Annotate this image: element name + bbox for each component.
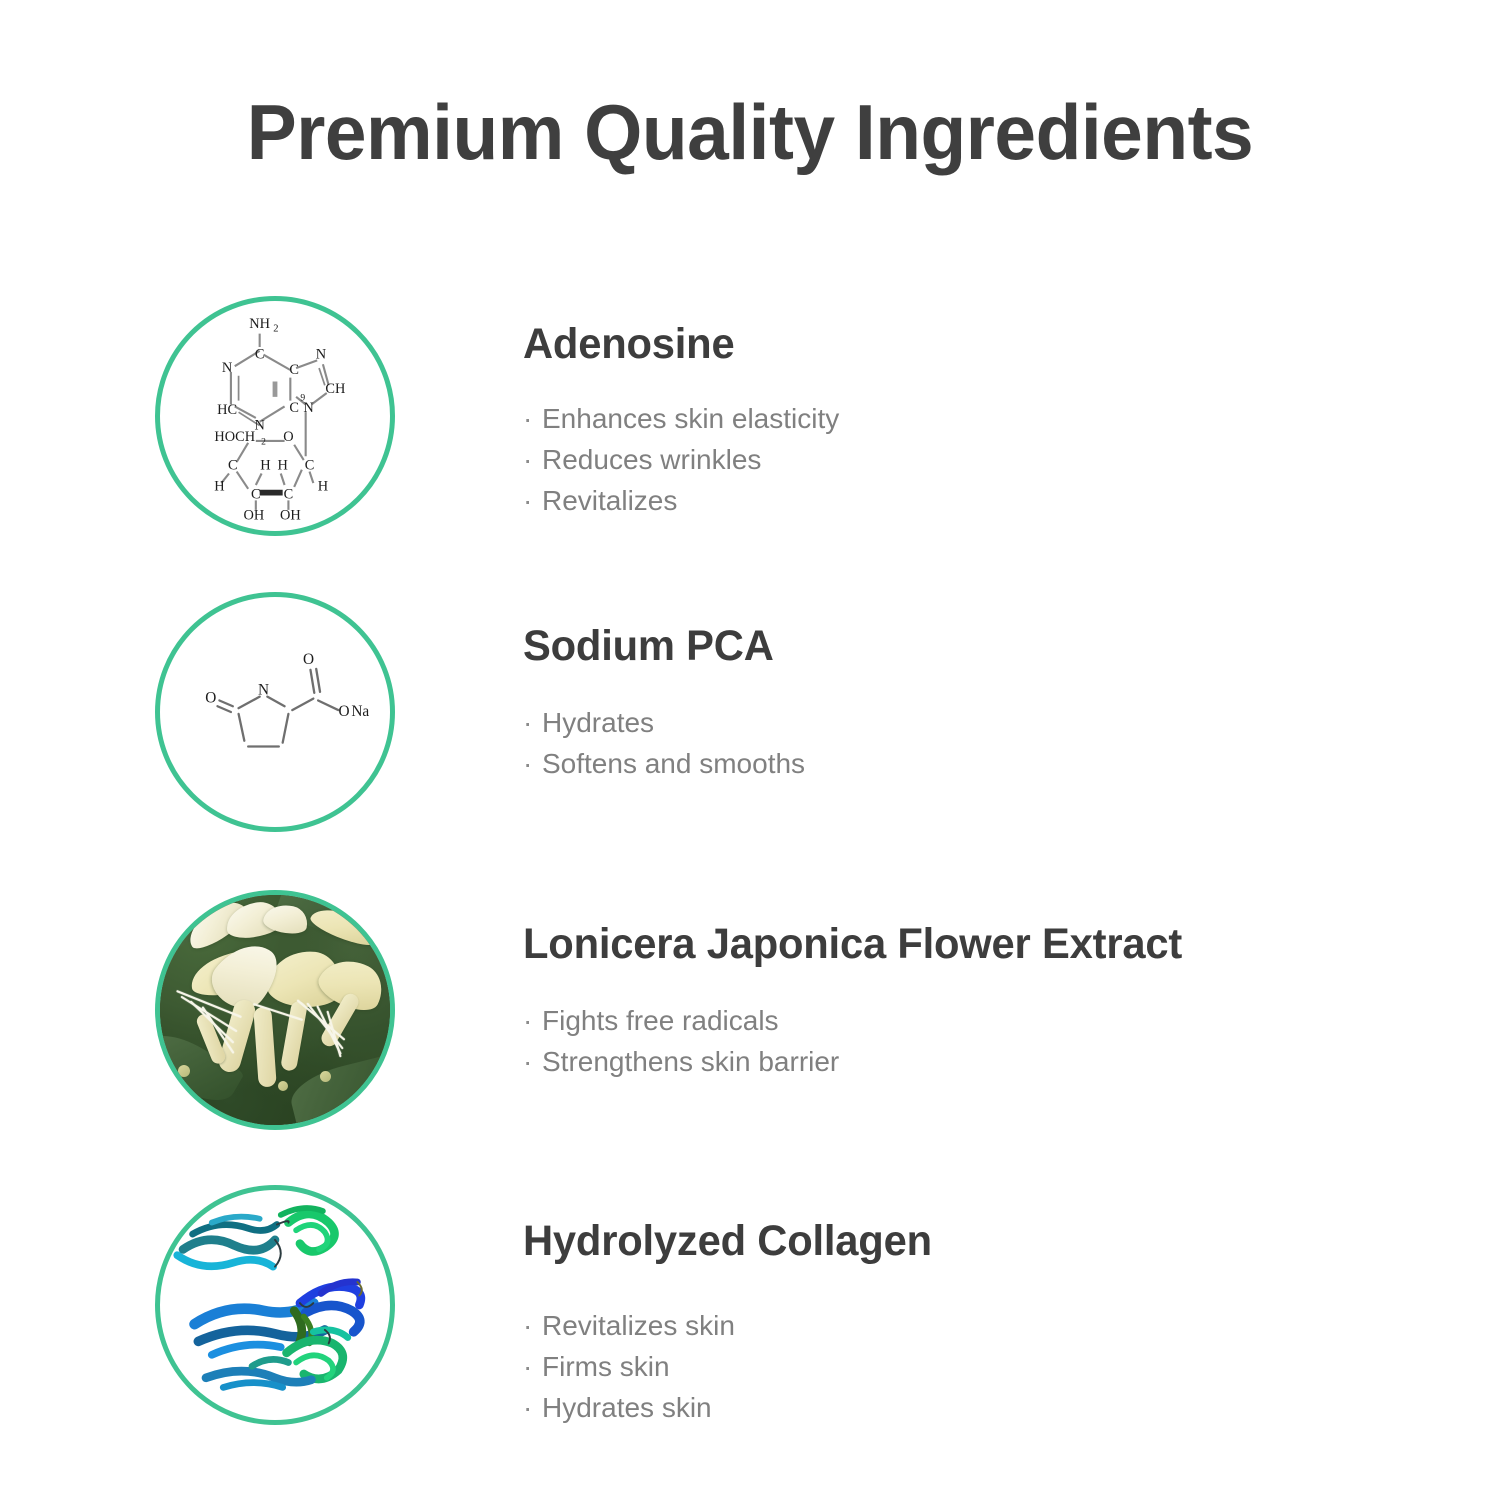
svg-text:N: N [222,360,233,376]
svg-text:C: C [289,400,299,416]
bullet-icon: · [523,702,532,743]
benefit-item: · Firms skin [523,1346,1423,1387]
benefit-text: Softens and smooths [542,748,805,779]
svg-text:2: 2 [273,324,278,335]
collagen-protein-icon [155,1185,395,1425]
benefit-item: · Revitalizes skin [523,1305,1423,1346]
benefit-item: · Hydrates [523,702,1423,743]
benefit-list: · Revitalizes skin · Firms skin · Hydrat… [523,1305,1423,1428]
svg-text:CH: CH [325,381,345,397]
svg-text:O: O [205,689,216,706]
bullet-icon: · [523,480,532,521]
svg-text:C: C [289,362,299,378]
svg-text:NH: NH [249,316,270,332]
svg-text:H: H [277,458,287,474]
bullet-icon: · [523,1346,532,1387]
ingredient-title: Adenosine [523,318,1396,370]
bullet-icon: · [523,398,532,439]
svg-text:N: N [254,417,265,433]
benefit-item: · Hydrates skin [523,1387,1423,1428]
bullet-icon: · [523,1000,532,1041]
svg-text:OH: OH [244,508,265,524]
ingredient-text-column: Adenosine · Enhances skin elasticity · R… [523,296,1423,521]
benefit-item: · Fights free radicals [523,1000,1423,1041]
ingredient-title: Hydrolyzed Collagen [523,1215,1396,1267]
benefit-text: Hydrates [542,707,654,738]
benefit-text: Strengthens skin barrier [542,1046,839,1077]
benefit-item: · Revitalizes [523,480,1423,521]
adenosine-molecule-diagram: NH 2 C N HC N C C N CH N 9 HOCH 2 O C C [160,301,390,531]
svg-text:C: C [305,458,315,474]
benefit-list: · Enhances skin elasticity · Reduces wri… [523,398,1423,521]
adenosine-molecule-icon: NH 2 C N HC N C C N CH N 9 HOCH 2 O C C [155,296,395,536]
bullet-icon: · [523,743,532,784]
ingredients-infographic: Premium Quality Ingredients [0,0,1500,1500]
benefit-text: Fights free radicals [542,1005,779,1036]
svg-text:H: H [318,479,328,495]
ingredient-text-column: Lonicera Japonica Flower Extract · Fight… [523,890,1423,1082]
benefit-list: · Hydrates · Softens and smooths [523,702,1423,784]
benefit-item: · Enhances skin elasticity [523,398,1423,439]
ingredient-text-column: Hydrolyzed Collagen · Revitalizes skin ·… [523,1185,1423,1428]
svg-text:C: C [284,486,294,502]
svg-text:HC: HC [217,402,237,418]
bullet-icon: · [523,1387,532,1428]
svg-text:OH: OH [280,508,301,524]
svg-text:H: H [260,458,270,474]
benefit-text: Hydrates skin [542,1392,712,1423]
benefit-item: · Reduces wrinkles [523,439,1423,480]
svg-text:HOCH: HOCH [214,429,255,445]
svg-text:N: N [258,682,269,699]
svg-text:N: N [316,347,327,363]
benefit-item: · Softens and smooths [523,743,1423,784]
svg-text:O: O [303,651,314,668]
svg-text:O: O [338,703,349,720]
svg-text:C: C [251,486,261,502]
honeysuckle-flower-icon [155,890,395,1130]
sodium-pca-molecule-icon: N O O O Na [155,592,395,832]
bullet-icon: · [523,439,532,480]
benefit-text: Revitalizes skin [542,1310,735,1341]
svg-text:H: H [214,479,224,495]
benefit-list: · Fights free radicals · Strengthens ski… [523,1000,1423,1082]
ingredient-title: Lonicera Japonica Flower Extract [523,918,1396,970]
collagen-protein-ribbon-diagram [160,1190,390,1420]
svg-text:C: C [228,458,238,474]
honeysuckle-flower-photo [160,895,390,1125]
svg-text:9: 9 [300,393,305,404]
bullet-icon: · [523,1305,532,1346]
benefit-text: Enhances skin elasticity [542,403,839,434]
bullet-icon: · [523,1041,532,1082]
benefit-item: · Strengthens skin barrier [523,1041,1423,1082]
benefit-text: Revitalizes [542,485,677,516]
svg-text:Na: Na [351,703,369,720]
sodium-pca-molecule-diagram: N O O O Na [160,597,390,827]
benefit-text: Firms skin [542,1351,670,1382]
svg-text:2: 2 [261,437,266,448]
svg-text:C: C [255,347,265,363]
page-title: Premium Quality Ingredients [30,86,1470,178]
benefit-text: Reduces wrinkles [542,444,761,475]
ingredient-text-column: Sodium PCA · Hydrates · Softens and smoo… [523,592,1423,784]
svg-text:O: O [283,429,293,445]
ingredient-title: Sodium PCA [523,620,1396,672]
